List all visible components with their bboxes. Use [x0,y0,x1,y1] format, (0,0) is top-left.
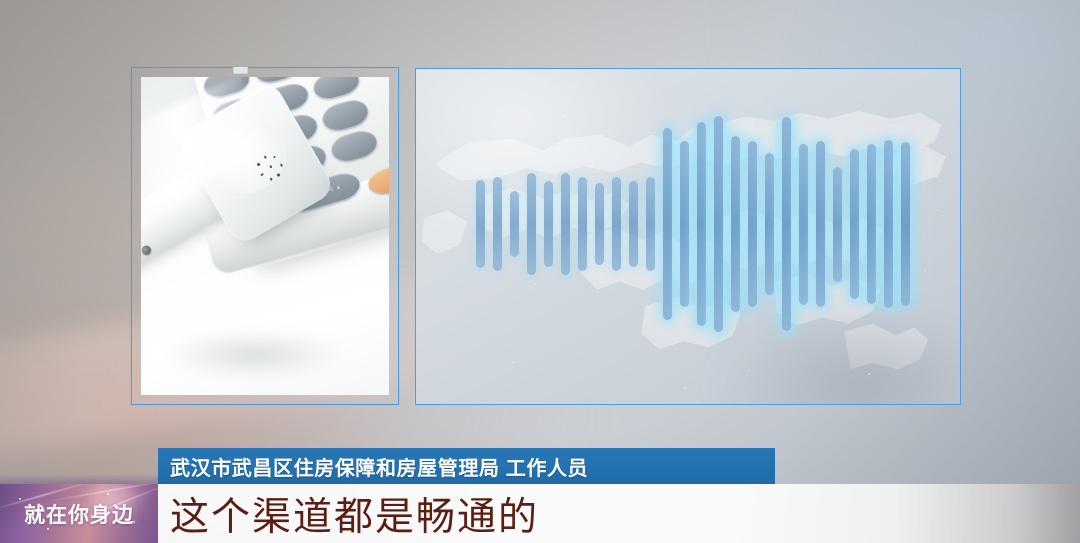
waveform-bar [493,177,502,271]
keypad-hold-label: HOLD [368,166,389,188]
subtitle-bar: 这个渠道都是畅通的 [158,484,1080,543]
speaker-title-bar: 武汉市武昌区住房保障和房屋管理局 工作人员 [158,448,775,484]
keypad-hold-key: HOLD [365,157,389,198]
keypad-key [320,96,371,133]
photo-shadow [156,319,369,389]
waveform-bar [544,181,553,267]
channel-logo: 就在你身边 [0,484,158,543]
waveform-bars [416,69,960,404]
photo-tab [233,67,248,74]
waveform-bar [578,177,587,271]
waveform-bar [561,173,570,275]
waveform-bar [884,140,893,309]
waveform-bar [782,117,791,332]
waveform-bar [476,180,485,268]
keypad-key [328,127,379,164]
earpiece-hole [270,178,274,182]
broadcast-frame: LINE▼ VOLUME ▲HOLD [0,0,1080,543]
waveform-bar [527,173,536,275]
waveform-bar [833,167,842,282]
waveform-bar [714,116,723,333]
waveform-bar [697,122,706,325]
earpiece-hole [273,155,277,159]
waveform-bar [867,144,876,303]
waveform-bar [748,141,757,308]
waveform-bar [901,142,910,307]
keypad-key [311,77,362,102]
waveform-bar [799,144,808,305]
waveform-bar [663,128,672,320]
earpiece-hole [280,164,284,168]
earpiece-hole [257,163,261,167]
waveform-bar [850,149,859,299]
earpiece-hole [261,173,265,177]
earpiece-hole [264,155,268,159]
waveform-bar [816,141,825,308]
telephone-photo: LINE▼ VOLUME ▲HOLD [141,77,389,395]
waveform-bar [629,181,638,267]
waveform-bar [765,153,774,295]
earpiece-hole [277,173,281,177]
waveform-bar [510,191,519,256]
channel-logo-top-fade [0,474,158,484]
waveform-bar [612,177,621,271]
subtitle-text: 这个渠道都是畅通的 [158,486,539,542]
waveform-bar [646,177,655,271]
channel-slogan: 就在你身边 [0,499,158,529]
waveform-bar [595,183,604,265]
waveform-bar [731,136,740,312]
waveform-bar [680,141,689,308]
earpiece-hole [269,165,273,169]
speaker-title-text: 武汉市武昌区住房保障和房屋管理局 工作人员 [158,452,588,481]
audio-waveform-panel [415,68,961,405]
telephone-photo-frame: LINE▼ VOLUME ▲HOLD [131,67,399,405]
